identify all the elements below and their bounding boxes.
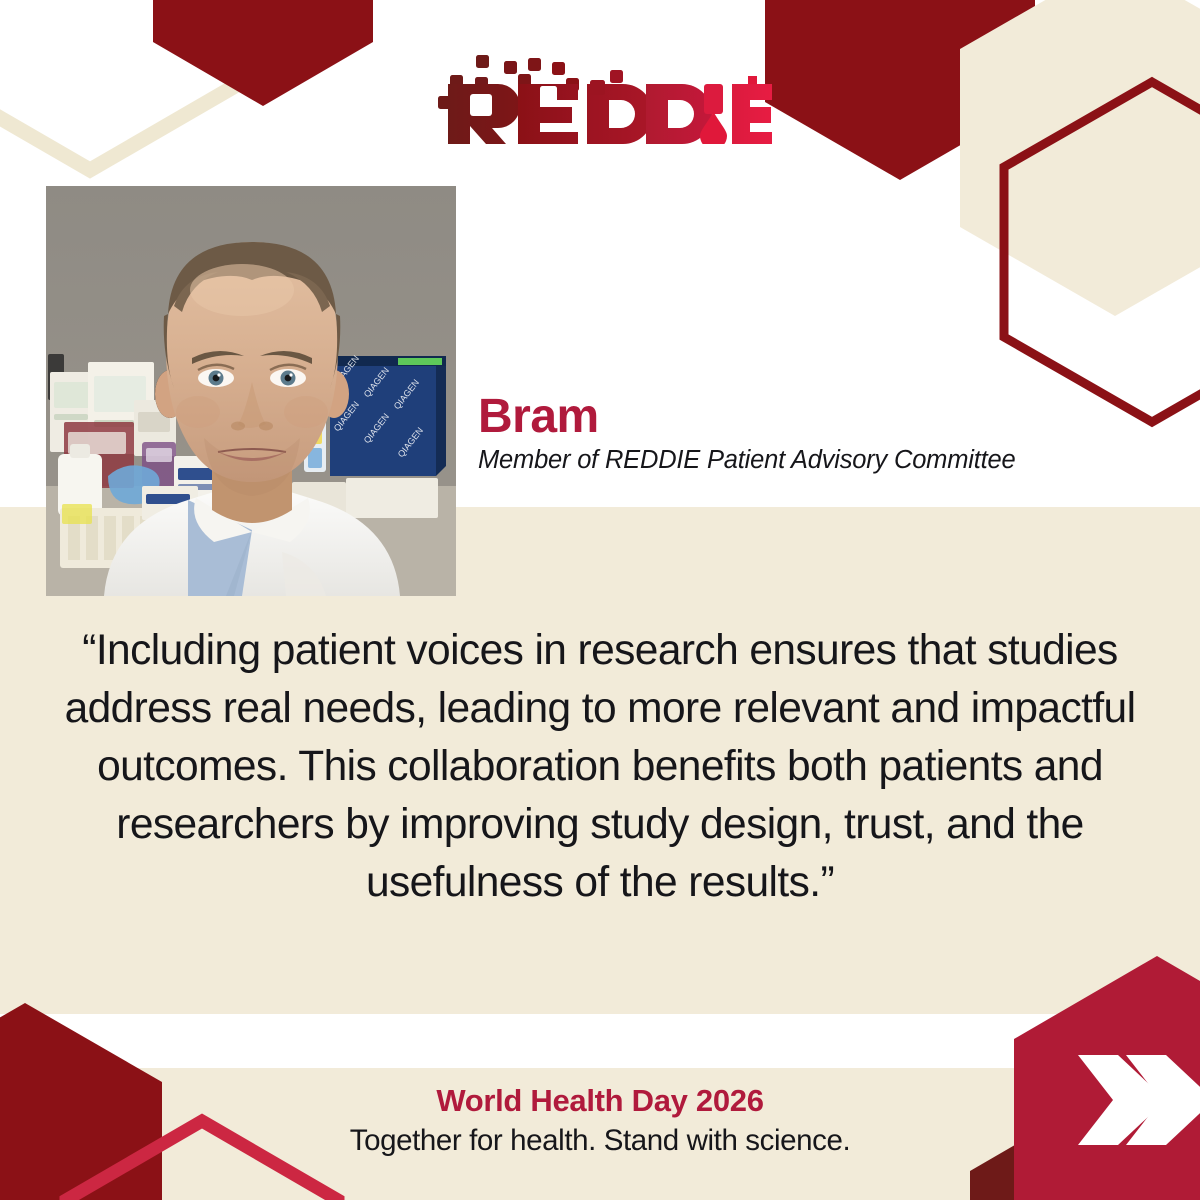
logo-letter-e2	[732, 84, 772, 144]
top-right-hexagon-beige-icon	[960, 0, 1200, 316]
avatar: QIAGEN QIAGEN QIAGEN QIAGEN QIAGEN QIAGE…	[46, 186, 456, 596]
right-hexagon-outline-icon	[1004, 82, 1200, 422]
portrait-photo: QIAGEN QIAGEN QIAGEN QIAGEN QIAGEN QIAGE…	[46, 186, 456, 596]
logo-letter-d1	[587, 70, 653, 144]
footer: World Health Day 2026 Together for healt…	[0, 1082, 1200, 1160]
page-title: Bram	[478, 392, 1138, 442]
footer-subtitle: Together for health. Stand with science.	[0, 1123, 1200, 1160]
reddie-logo[interactable]	[432, 52, 772, 144]
top-left-hexagon-solid-icon	[153, 0, 373, 106]
footer-title: World Health Day 2026	[0, 1082, 1200, 1121]
social-media-card: QIAGEN QIAGEN QIAGEN QIAGEN QIAGEN QIAGE…	[0, 0, 1200, 1200]
person-identity-block: Bram Member of REDDIE Patient Advisory C…	[478, 392, 1138, 476]
top-left-hexagon-outline-icon	[0, 0, 280, 170]
person-role: Member of REDDIE Patient Advisory Commit…	[478, 446, 1138, 475]
lab-box: QIAGEN QIAGEN QIAGEN QIAGEN QIAGEN QIAGE…	[330, 353, 446, 476]
white-band-divider	[0, 1014, 1200, 1068]
quote-text: “Including patient voices in research en…	[64, 622, 1136, 912]
top-right-hexagon-solid-icon	[765, 0, 1035, 180]
logo-letter-r	[448, 84, 520, 144]
logo-letter-e1	[518, 84, 578, 144]
